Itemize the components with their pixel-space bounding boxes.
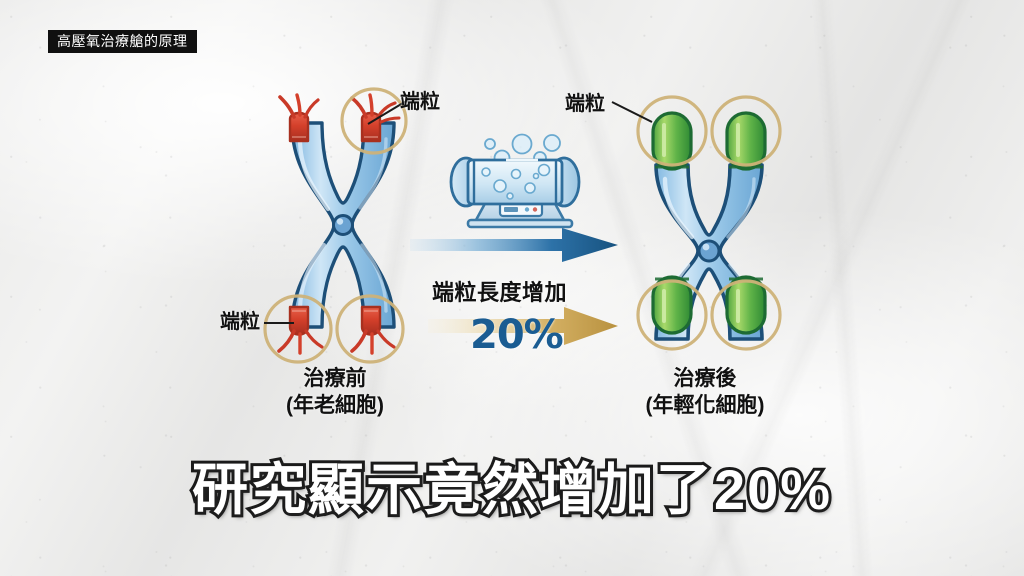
title-banner: 高壓氧治療艙的原理 xyxy=(48,30,197,53)
before-caption-sub: (年老細胞) xyxy=(245,393,425,420)
slide-canvas: 高壓氧治療艙的原理 xyxy=(0,0,1024,576)
before-caption: 治療前 (年老細胞) xyxy=(245,366,425,420)
growth-text: 端粒長度增加 xyxy=(432,282,567,304)
after-caption-main: 治療後 xyxy=(674,367,737,390)
after-caption-sub: (年輕化細胞) xyxy=(610,393,800,420)
after-chromosome-group xyxy=(612,95,792,350)
after-caption: 治療後 (年輕化細胞) xyxy=(610,366,800,420)
subtitle-caption: 研究顯示竟然增加了20% xyxy=(0,462,1024,518)
after-telomere-label-top: 端粒 xyxy=(565,94,605,114)
hyperbaric-chamber-icon xyxy=(440,128,590,238)
after-telomere-leader xyxy=(612,100,658,126)
before-telomere-label-bottom: 端粒 xyxy=(220,312,260,332)
before-telomere-bottom-leader xyxy=(264,316,300,330)
growth-percentage: 20% xyxy=(470,315,563,355)
before-caption-main: 治療前 xyxy=(304,367,367,390)
treatment-arrow xyxy=(410,228,620,262)
before-chromosome-group xyxy=(250,95,420,345)
before-telomere-label-top: 端粒 xyxy=(400,92,440,112)
